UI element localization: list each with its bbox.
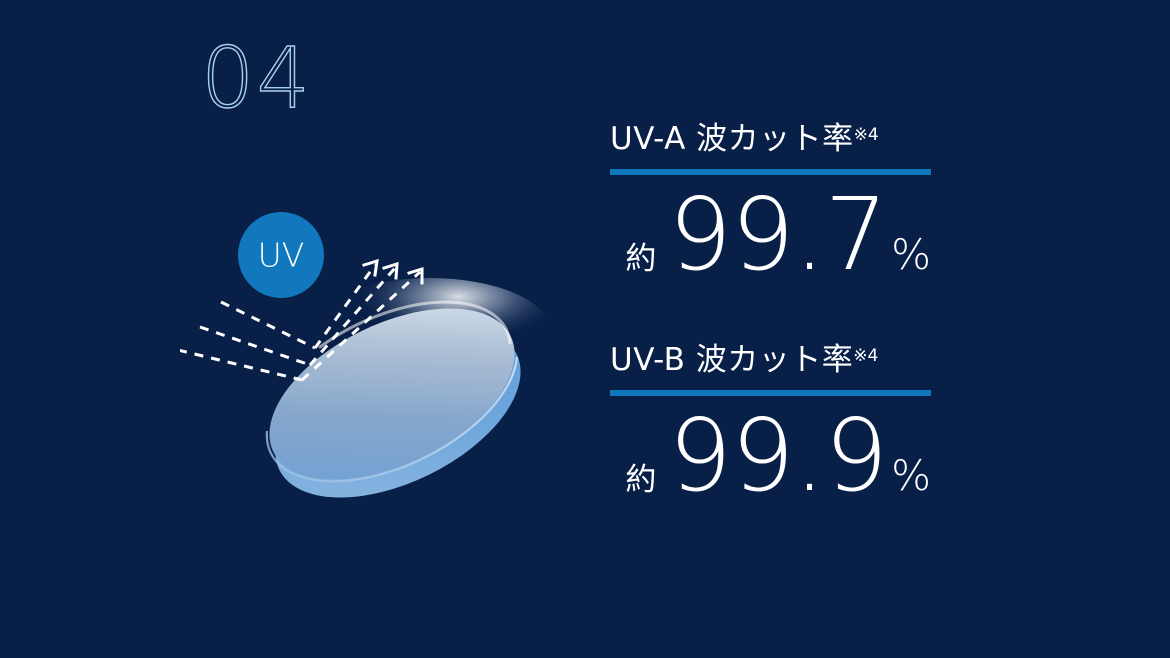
- stat-rule-uv-b: [610, 390, 931, 396]
- stat-heading-uv-b: UV-B 波カット率※4: [610, 343, 940, 377]
- stat-heading-note-uv-a: ※4: [854, 125, 879, 145]
- uv-badge: UV: [238, 212, 324, 298]
- stat-value-uv-b: 約 99.9 %: [610, 406, 931, 506]
- stat-block-uv-a: UV-A 波カット率※4 約 99.7 %: [610, 122, 940, 285]
- stat-heading-text-uv-b: UV-B 波カット率: [610, 342, 853, 378]
- uv-lens-illustration: UV: [180, 180, 600, 540]
- stat-approx-uv-a: 約: [625, 244, 656, 275]
- stat-heading-uv-a: UV-A 波カット率※4: [610, 122, 940, 156]
- stats-column: UV-A 波カット率※4 約 99.7 % UV-B 波カット率※4 約 99.…: [610, 122, 940, 506]
- stat-approx-uv-b: 約: [625, 465, 656, 496]
- stat-block-uv-b: UV-B 波カット率※4 約 99.9 %: [610, 343, 940, 506]
- stat-rule-uv-a: [610, 169, 931, 175]
- stat-heading-text-uv-a: UV-A 波カット率: [610, 121, 854, 157]
- slide-root: 04: [0, 0, 1170, 658]
- incoming-uv-rays: [180, 302, 315, 380]
- stat-number-uv-a: 99.7: [668, 185, 887, 285]
- stat-unit-uv-b: %: [891, 455, 931, 497]
- stat-number-uv-b: 99.9: [668, 406, 887, 506]
- stat-unit-uv-a: %: [891, 234, 931, 276]
- step-number: 04: [201, 36, 312, 120]
- incoming-ray-1: [221, 302, 315, 348]
- stat-value-uv-a: 約 99.7 %: [610, 185, 931, 285]
- stat-heading-note-uv-b: ※4: [853, 346, 878, 366]
- uv-badge-label: UV: [258, 236, 305, 275]
